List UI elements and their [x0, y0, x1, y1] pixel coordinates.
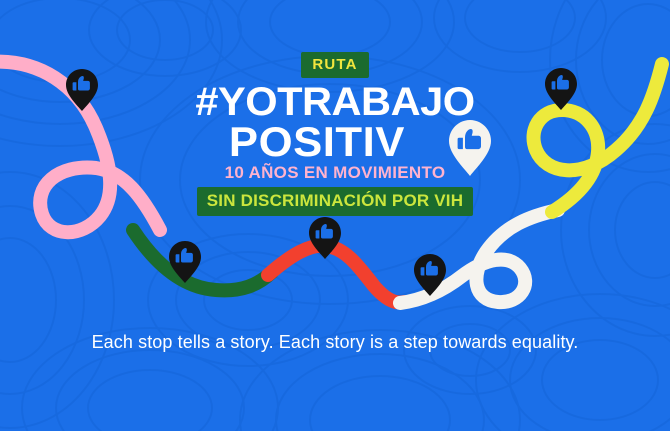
map-pin-thumbs-up-icon [448, 119, 492, 177]
headline-line-1: #YOTRABAJO [0, 83, 670, 121]
ruta-badge: RUTA [301, 52, 368, 78]
subtitle-text: Each stop tells a story. Each story is a… [0, 332, 670, 353]
headline-line-2-wrap: POSITIV [0, 122, 670, 162]
campaign-poster: RUTA #YOTRABAJO POSITIV 10 AÑOS EN MOVIM… [0, 0, 670, 431]
no-discrimination-badge: SIN DISCRIMINACIÓN POR VIH [197, 187, 473, 216]
tagline-years: 10 AÑOS EN MOVIMIENTO [0, 164, 670, 181]
route-stop-3[interactable] [308, 216, 342, 260]
segment-green [133, 230, 272, 290]
campaign-logo: RUTA #YOTRABAJO POSITIV 10 AÑOS EN MOVIM… [0, 52, 670, 216]
headline-line-2: POSITIV [229, 122, 440, 162]
route-stop-4[interactable] [413, 253, 447, 297]
route-stop-2[interactable] [168, 240, 202, 284]
